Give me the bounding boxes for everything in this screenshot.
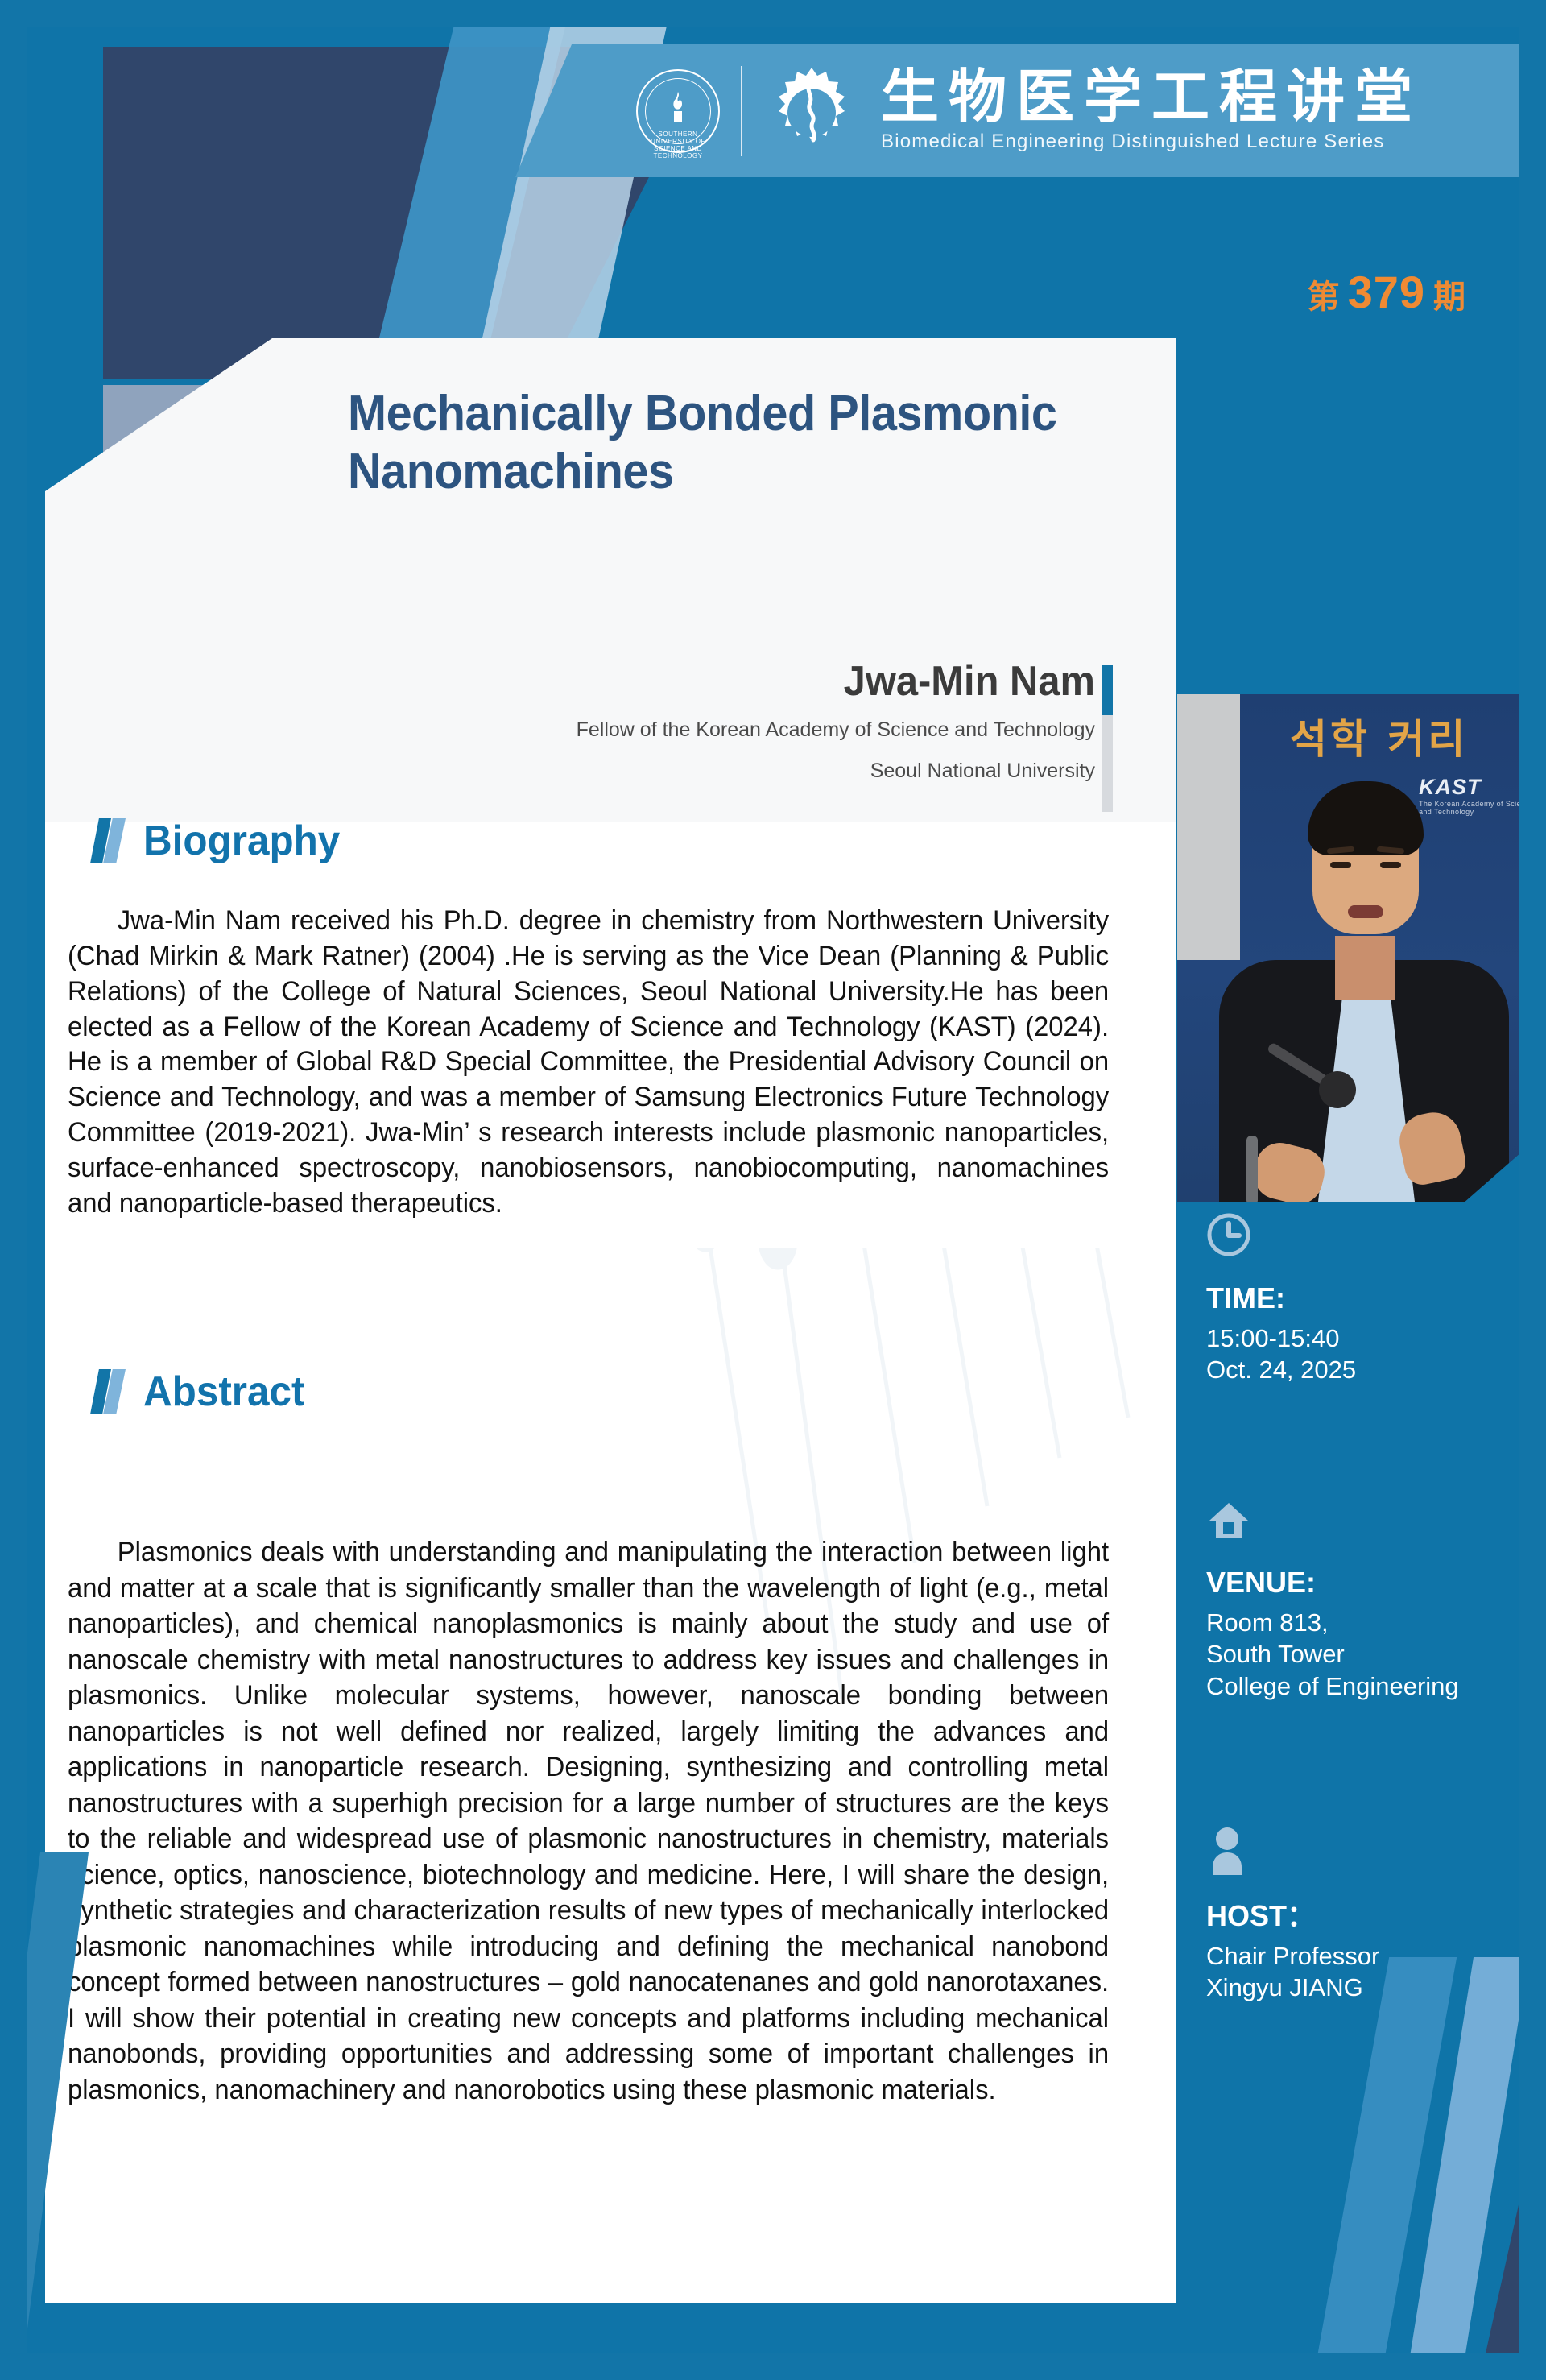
issue-suffix: 期 bbox=[1433, 271, 1465, 317]
speaker-affiliation-1: Fellow of the Korean Academy of Science … bbox=[386, 717, 1095, 743]
venue-info-block: VENUE: Room 813, South Tower College of … bbox=[1206, 1500, 1459, 1703]
time-value-1: 15:00-15:40 bbox=[1206, 1322, 1356, 1355]
speaker-affiliation-2: Seoul National University bbox=[386, 758, 1095, 784]
venue-value-3: College of Engineering bbox=[1206, 1670, 1459, 1703]
biography-heading-label: Biography bbox=[143, 820, 340, 862]
decor-slash-bl1 bbox=[0, 1852, 89, 2380]
speaker-photo: 석학 커리 KAST The Korean Academy of Science… bbox=[1177, 694, 1546, 1202]
speaker-accent-bar-grey bbox=[1102, 715, 1113, 812]
venue-value-1: Room 813, bbox=[1206, 1607, 1459, 1639]
section-marker-icon bbox=[90, 1369, 126, 1414]
abstract-heading: Abstract bbox=[90, 1369, 313, 1414]
photo-kast-text: KAST bbox=[1419, 775, 1482, 799]
seal-caption: SOUTHERN UNIVERSITY OF SCIENCE AND TECHN… bbox=[638, 130, 718, 159]
bme-gear-icon bbox=[763, 63, 860, 159]
biography-body: Jwa-Min Nam received his Ph.D. degree in… bbox=[68, 904, 1109, 1222]
speaker-accent-bar bbox=[1102, 665, 1113, 715]
page-title: Mechanically Bonded Plasmonic Nanomachin… bbox=[348, 385, 1104, 501]
issue-number: 379 bbox=[1348, 266, 1425, 318]
issue-prefix: 第 bbox=[1308, 271, 1340, 317]
section-marker-icon bbox=[90, 818, 126, 863]
sustech-seal-icon: SOUTHERN UNIVERSITY OF SCIENCE AND TECHN… bbox=[636, 69, 720, 153]
clock-icon bbox=[1206, 1212, 1356, 1261]
bottom-right-decoration bbox=[1176, 1957, 1546, 2380]
abstract-body: Plasmonics deals with understanding and … bbox=[68, 1534, 1109, 2109]
logo-divider bbox=[741, 66, 742, 156]
series-title-en: Biomedical Engineering Distinguished Lec… bbox=[881, 130, 1422, 153]
abstract-heading-label: Abstract bbox=[143, 1371, 304, 1413]
venue-label: VENUE: bbox=[1206, 1567, 1459, 1599]
time-info-block: TIME: 15:00-15:40 Oct. 24, 2025 bbox=[1206, 1212, 1356, 1386]
host-label: HOST： bbox=[1206, 1900, 1379, 1932]
speaker-name: Jwa-Min Nam bbox=[429, 660, 1095, 702]
photo-backdrop-text: 석학 커리 bbox=[1290, 707, 1468, 765]
time-label: TIME: bbox=[1206, 1282, 1356, 1314]
photo-kast-logo: KAST The Korean Academy of Science and T… bbox=[1419, 775, 1546, 816]
series-title-zh: 生物医学工程讲堂 bbox=[881, 68, 1422, 126]
bottom-left-decoration bbox=[0, 1852, 97, 2380]
person-icon bbox=[1206, 1827, 1379, 1879]
home-icon bbox=[1206, 1500, 1459, 1546]
time-value-2: Oct. 24, 2025 bbox=[1206, 1354, 1356, 1386]
header-logo-strip: SOUTHERN UNIVERSITY OF SCIENCE AND TECHN… bbox=[515, 44, 1546, 177]
speaker-block: Jwa-Min Nam Fellow of the Korean Academy… bbox=[386, 660, 1095, 784]
poster-root: SOUTHERN UNIVERSITY OF SCIENCE AND TECHN… bbox=[0, 0, 1546, 2380]
photo-kast-subtext: The Korean Academy of Science and Techno… bbox=[1419, 800, 1546, 816]
venue-value-2: South Tower bbox=[1206, 1638, 1459, 1670]
biography-heading: Biography bbox=[90, 818, 350, 863]
issue-number-badge: 第 379 期 bbox=[1308, 266, 1465, 318]
